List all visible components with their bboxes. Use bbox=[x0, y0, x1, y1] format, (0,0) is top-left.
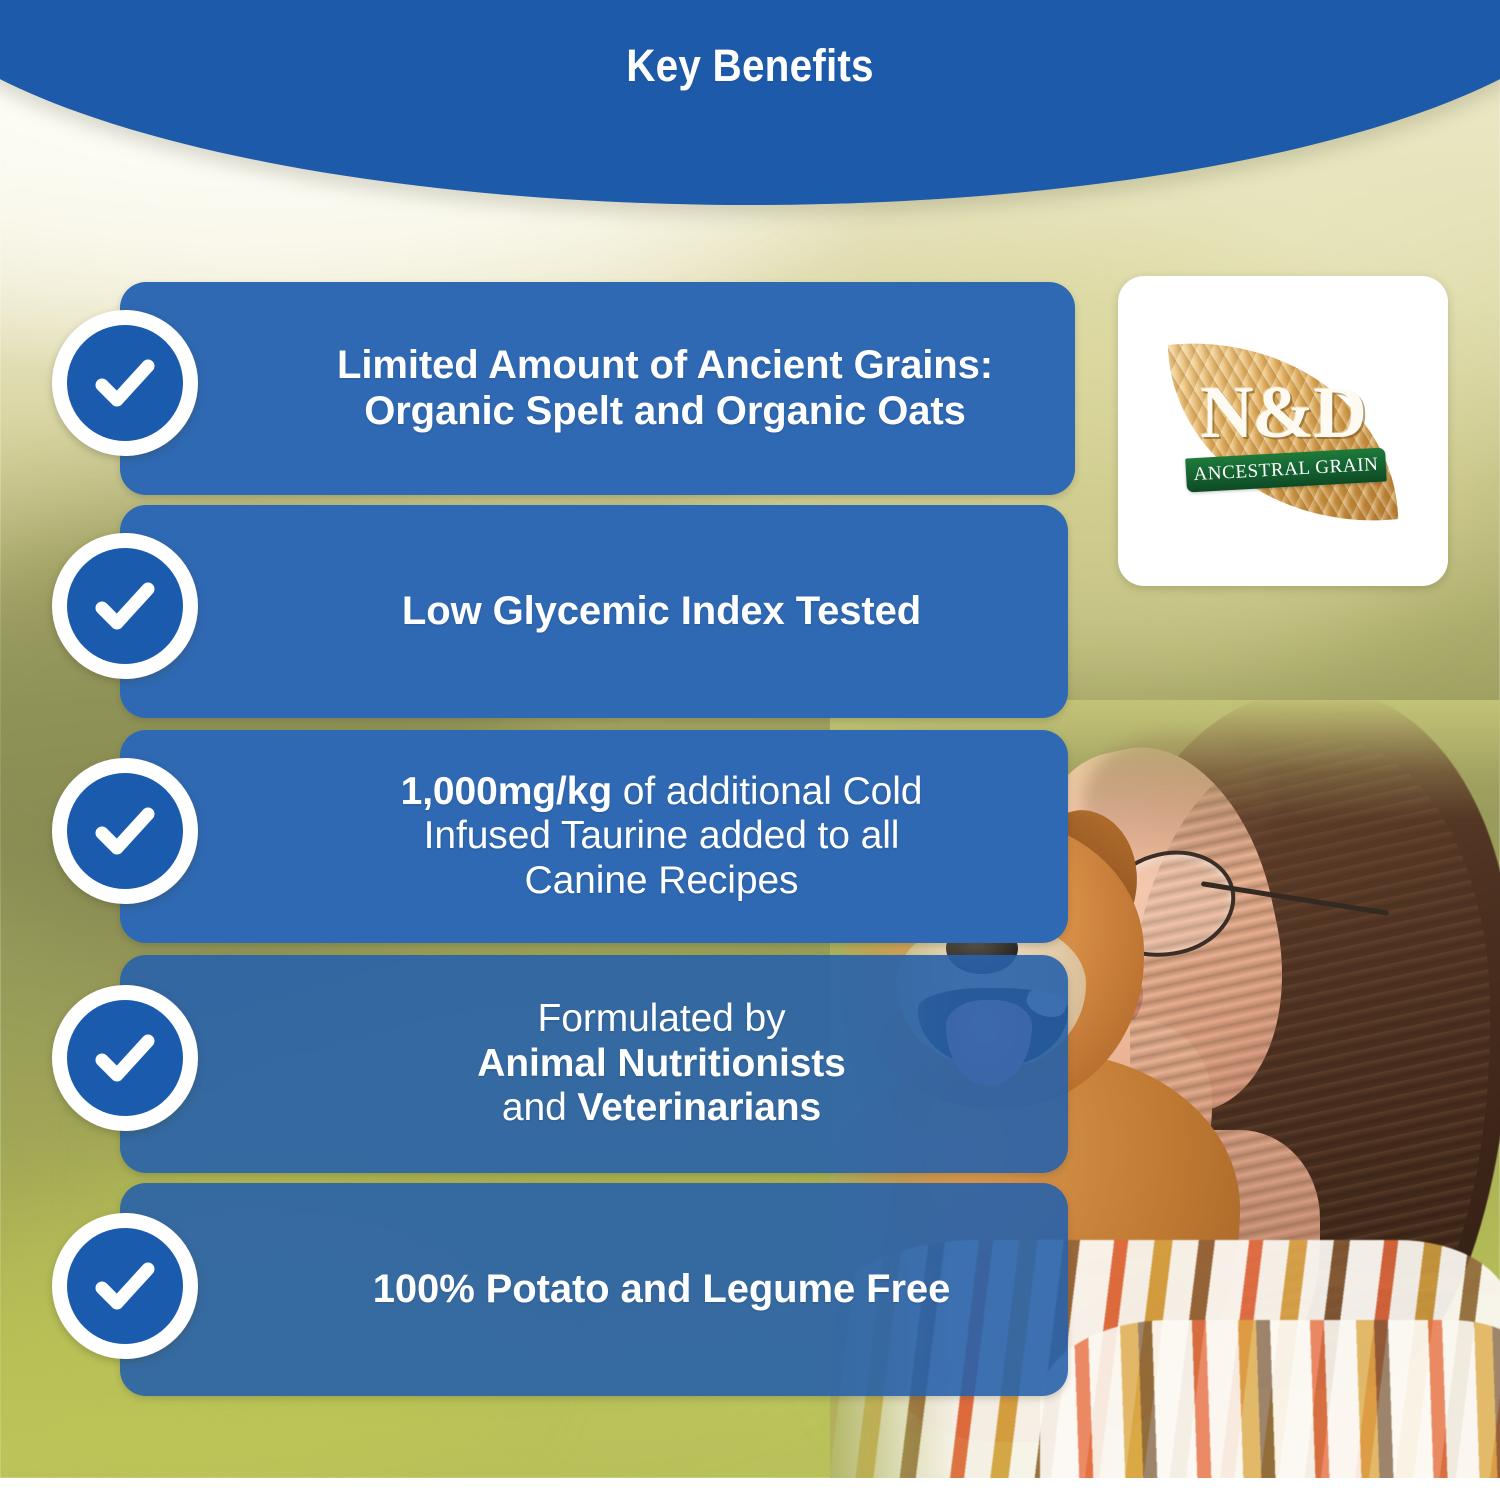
check-icon-disc bbox=[67, 1228, 183, 1344]
check-icon-disc bbox=[67, 1000, 183, 1116]
benefit-line: 100% Potato and Legume Free bbox=[373, 1267, 950, 1311]
benefit-emphasis: 1,000mg/kg bbox=[401, 770, 612, 813]
benefit-text: 100% Potato and Legume Free bbox=[120, 1267, 1068, 1313]
logo-banner-text: ANCESTRAL GRAIN bbox=[1193, 454, 1379, 486]
page-title: Key Benefits bbox=[0, 40, 1500, 92]
benefit-emphasis: Veterinarians bbox=[577, 1086, 821, 1129]
check-icon bbox=[52, 758, 198, 904]
check-icon bbox=[52, 533, 198, 679]
benefit-line: Formulated by bbox=[538, 997, 786, 1040]
brand-logo-card: N&D ANCESTRAL GRAIN bbox=[1118, 276, 1448, 586]
check-icon bbox=[52, 310, 198, 456]
benefit-text: 1,000mg/kg of additional Cold Infused Ta… bbox=[120, 770, 1068, 903]
benefit-card-low-glycemic-index: Low Glycemic Index Tested bbox=[120, 505, 1068, 718]
check-icon-disc bbox=[67, 548, 183, 664]
benefit-line: and bbox=[502, 1086, 578, 1129]
benefit-emphasis: Animal Nutritionists bbox=[477, 1042, 846, 1085]
check-icon bbox=[52, 985, 198, 1131]
benefit-line: of additional Cold bbox=[612, 770, 922, 813]
check-icon-disc bbox=[67, 325, 183, 441]
benefit-line: Infused Taurine added to all bbox=[424, 814, 900, 857]
benefit-line: Limited Amount of Ancient Grains: bbox=[337, 343, 993, 387]
benefit-card-cold-infused-taurine: 1,000mg/kg of additional Cold Infused Ta… bbox=[120, 730, 1068, 943]
check-icon bbox=[52, 1213, 198, 1359]
photo-plaid-blanket bbox=[1040, 1320, 1500, 1478]
benefit-card-ancient-grains: Limited Amount of Ancient Grains: Organi… bbox=[120, 282, 1075, 495]
logo-wordmark: N&D bbox=[1168, 371, 1398, 456]
bottom-white-strip bbox=[0, 1478, 1500, 1500]
benefit-card-potato-legume-free: 100% Potato and Legume Free bbox=[120, 1183, 1068, 1396]
check-icon-disc bbox=[67, 773, 183, 889]
benefit-text: Limited Amount of Ancient Grains: Organi… bbox=[120, 343, 1075, 434]
benefit-card-formulated-by-experts: Formulated by Animal Nutritionists and V… bbox=[120, 955, 1068, 1173]
benefit-text: Low Glycemic Index Tested bbox=[120, 589, 1068, 635]
benefit-text: Formulated by Animal Nutritionists and V… bbox=[120, 997, 1068, 1130]
infographic-root: Key Benefits Limited Amount of Ancient G… bbox=[0, 0, 1500, 1500]
nd-logo: N&D ANCESTRAL GRAIN bbox=[1168, 331, 1398, 531]
benefit-line: Organic Spelt and Organic Oats bbox=[364, 389, 966, 433]
benefit-line: Low Glycemic Index Tested bbox=[402, 589, 921, 633]
benefit-line: Canine Recipes bbox=[525, 859, 799, 902]
